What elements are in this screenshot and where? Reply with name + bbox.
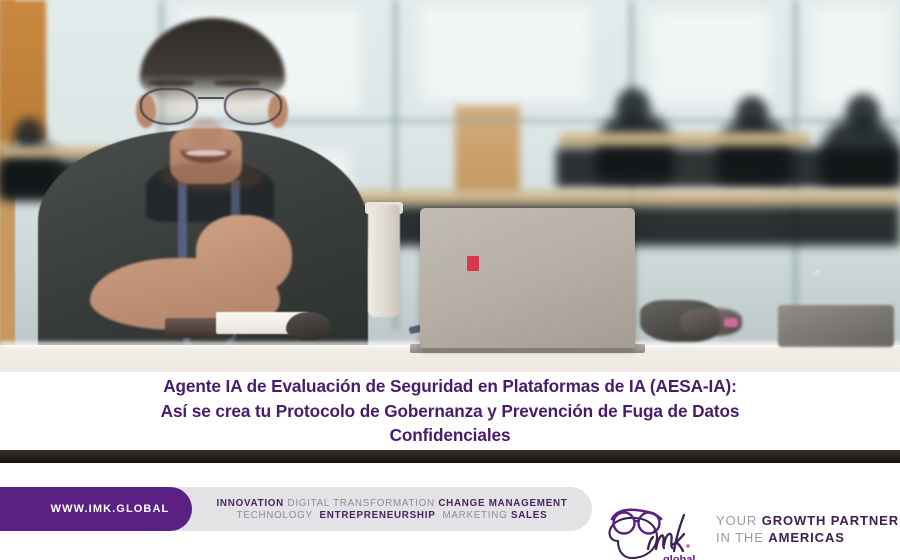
person-chin-shadow — [160, 160, 264, 192]
footer-bar: WWW.IMK.GLOBAL INNOVATION DIGITAL TRANSF… — [0, 463, 900, 560]
background-table-shadow — [556, 148, 900, 188]
keyword-change-management: CHANGE MANAGEMENT — [438, 498, 567, 509]
person-subject — [28, 10, 388, 370]
keyword-digital-transformation: DIGITAL TRANSFORMATION — [288, 498, 435, 509]
tagline-growth-partner: GROWTH PARTNER — [762, 513, 899, 528]
webinar-banner: 15 Agente IA de Evaluación de Seguridad … — [0, 0, 900, 560]
title-band: Agente IA de Evaluación de Seguridad en … — [0, 372, 900, 450]
person-teeth — [186, 150, 226, 156]
tagline-in-the: IN THE — [716, 530, 764, 545]
page-title: Agente IA de Evaluación de Seguridad en … — [131, 374, 770, 447]
desk-accessory-object — [724, 318, 738, 327]
tagline-americas: AMERICAS — [768, 530, 845, 545]
keywords-line-1: INNOVATION DIGITAL TRANSFORMATION CHANGE… — [216, 498, 567, 509]
tagline-your: YOUR — [716, 513, 757, 528]
imk-logo-icon: .global — [604, 501, 712, 560]
tagline-line-2: IN THE AMERICAS — [716, 530, 899, 545]
paper-cup-object — [368, 205, 400, 317]
title-line-2: Así se crea tu Protocolo de Gobernanza y… — [161, 401, 740, 421]
eyeglass-lens — [224, 88, 282, 125]
keyword-entrepreneurship: ENTREPRENEURSHIP — [320, 510, 436, 521]
tagline: YOUR GROWTH PARTNER IN THE AMERICAS — [716, 513, 899, 545]
photo-watermark: 15 — [812, 270, 821, 277]
eyeglass-bridge — [198, 97, 224, 99]
website-url-label: WWW.IMK.GLOBAL — [23, 503, 170, 515]
website-url-pill[interactable]: WWW.IMK.GLOBAL — [0, 487, 192, 531]
keyword-sales: SALES — [511, 510, 547, 521]
laptop-brand-logo-icon — [467, 256, 479, 271]
keyword-technology: TECHNOLOGY — [237, 510, 313, 521]
person-eyebrow — [214, 80, 260, 86]
person-nose — [190, 118, 222, 146]
window-pane — [650, 12, 770, 104]
imk-global-logo[interactable]: .global — [604, 501, 712, 560]
person-eyebrow — [148, 80, 194, 86]
keywords-list: INNOVATION DIGITAL TRANSFORMATION CHANGE… — [196, 487, 588, 531]
logo-global-suffix: .global — [660, 554, 695, 560]
secondary-laptop-object — [778, 305, 894, 347]
window-pane — [420, 6, 590, 102]
background-table — [560, 132, 810, 148]
keywords-line-2: TECHNOLOGY ENTREPRENEURSHIP MARKETING SA… — [237, 510, 548, 521]
keyword-marketing: MARKETING — [442, 510, 507, 521]
tagline-line-1: YOUR GROWTH PARTNER — [716, 513, 899, 528]
window-pane — [812, 8, 892, 108]
person-hand — [196, 215, 292, 295]
title-line-3: Confidenciales — [390, 425, 511, 445]
keyword-innovation: INNOVATION — [216, 498, 284, 509]
eyeglass-lens — [140, 88, 198, 125]
computer-mouse-object — [286, 312, 332, 340]
title-line-1: Agente IA de Evaluación de Seguridad en … — [163, 376, 737, 396]
laptop-object — [420, 208, 635, 348]
